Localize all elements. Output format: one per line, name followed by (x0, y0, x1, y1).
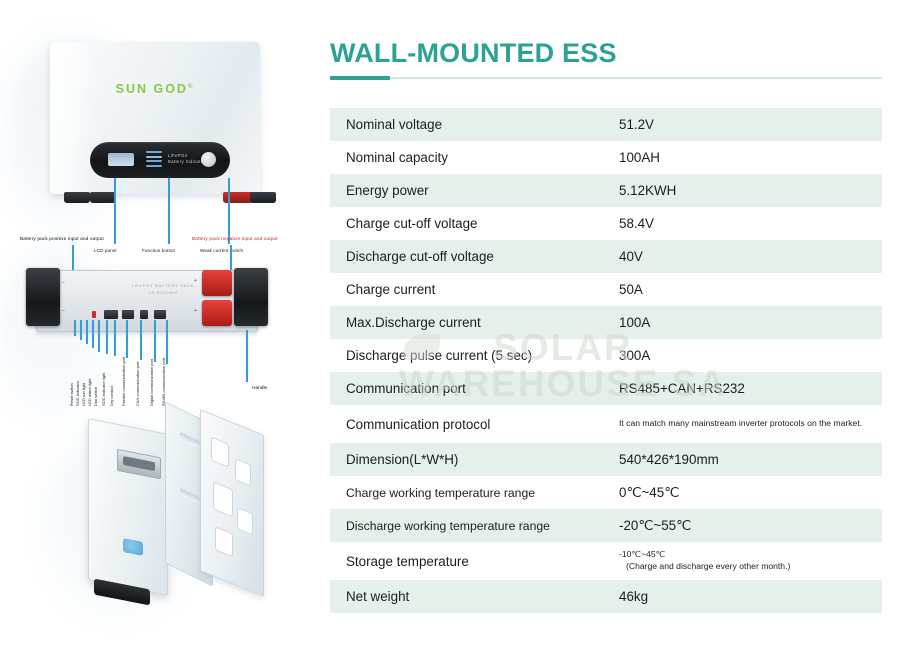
lcd-screen (108, 153, 134, 166)
spec-label: Charge cut-off voltage (330, 216, 613, 231)
spec-value: 100AH (613, 150, 882, 165)
spec-label: Dimension(L*W*H) (330, 452, 613, 467)
spec-label: Max.Discharge current (330, 315, 613, 330)
table-row: Discharge working temperature range -20℃… (330, 509, 882, 542)
spec-value: 540*426*190mm (613, 452, 882, 467)
spec-value: 5.12KWH (613, 183, 882, 198)
table-row: Net weight 46kg (330, 580, 882, 613)
spec-label: Communication port (330, 381, 613, 396)
spec-label: Communication protocol (330, 417, 613, 432)
label-positive-terminal: Battery pack positive input and output (20, 237, 104, 242)
product-photo-bracket (70, 418, 295, 618)
callout-leader-line (230, 245, 232, 271)
bracket-hole (215, 526, 233, 557)
callout-handle: Handle (252, 386, 267, 391)
table-row: Charge current 50A (330, 273, 882, 306)
port-icon (122, 310, 134, 319)
port-label: Digital communication port (149, 359, 154, 406)
label-negative-terminal: Battery pack negative input and output (192, 237, 278, 242)
led-indicator-bars (146, 151, 162, 168)
table-row: Discharge pulse current (5 sec) 300A (330, 339, 882, 372)
product-images-column: SUN GOD® LiFePO4 Battery Indicator (0, 0, 312, 647)
title-rule (330, 77, 882, 79)
battery-front-body: SUN GOD® LiFePO4 Battery Indicator (50, 42, 260, 194)
port-label: LED alarm light (87, 379, 92, 406)
spec-label: Nominal capacity (330, 150, 613, 165)
port-icon (140, 310, 148, 319)
terminal-positive (26, 268, 60, 326)
title-rule-accent (330, 76, 390, 80)
spec-label: Energy power (330, 183, 613, 198)
spec-value: -20℃~55℃ (613, 518, 882, 534)
polarity-minus-icon: − (62, 308, 65, 314)
product-spec-sheet: SUN GOD® LiFePO4 Battery Indicator (0, 0, 900, 647)
mount-foot (90, 192, 116, 203)
body-highlight (50, 42, 96, 194)
table-row: Discharge cut-off voltage 40V (330, 240, 882, 273)
port-label: Reset switch (69, 383, 74, 406)
spec-label: Storage temperature (330, 554, 613, 569)
terminal-negative-bottom (202, 300, 232, 326)
bracket-hole (213, 481, 233, 517)
callout-leader-line (72, 245, 74, 271)
callout-leader-line (246, 330, 248, 382)
spec-label: Net weight (330, 589, 613, 604)
wall-mount-bracket (200, 409, 264, 597)
mount-foot (250, 192, 276, 203)
product-photo-front: SUN GOD® LiFePO4 Battery Indicator (28, 42, 280, 222)
polarity-minus-icon: − (62, 280, 65, 286)
spec-value: 58.4V (613, 216, 882, 231)
panel-marking-line2: Battery Indicator (168, 159, 205, 165)
terminal-handle-right (234, 268, 268, 326)
product-badge-icon (123, 538, 143, 556)
page-title: WALL-MOUNTED ESS (330, 38, 617, 69)
spec-label: Nominal voltage (330, 117, 613, 132)
spec-value: 50A (613, 282, 882, 297)
face-marking: LiFePO4 BATTERY PACK LP-5120WH (123, 283, 203, 297)
table-row: Dimension(L*W*H) 540*426*190mm (330, 443, 882, 476)
registered-mark-icon: ® (188, 84, 194, 90)
battery-case-3d (88, 418, 168, 596)
product-photo-rear: Battery pack positive input and output B… (14, 234, 304, 412)
table-row: Max.Discharge current 100A (330, 306, 882, 339)
terminal-negative-top (202, 270, 232, 296)
port-label: CAN communication port (135, 362, 140, 406)
spec-value-note: (Charge and discharge every other month.… (619, 561, 882, 573)
carry-handle (117, 449, 161, 480)
spec-value: It can match many mainstream inverter pr… (613, 418, 882, 430)
table-row: Energy power 5.12KWH (330, 174, 882, 207)
function-button-icon (201, 152, 216, 167)
port-label: SOC indicator light (101, 373, 106, 406)
table-row: Storage temperature -10℃~45℃ (Charge and… (330, 542, 882, 580)
spec-value: 0℃~45℃ (613, 485, 882, 501)
table-row: Charge working temperature range 0℃~45℃ (330, 476, 882, 509)
table-row: Nominal voltage 51.2V (330, 108, 882, 141)
brand-logo: SUN GOD® (50, 82, 260, 96)
polarity-plus-icon: + (194, 278, 197, 284)
bracket-hole (237, 507, 253, 535)
port-label: LED run light (81, 383, 86, 406)
spec-value: 100A (613, 315, 882, 330)
port-label: Dry contact (109, 386, 114, 406)
port-icon (154, 310, 166, 319)
port-label: Dial switch (93, 387, 98, 406)
spec-value: RS485+CAN+RS232 (613, 381, 882, 396)
spec-value: 51.2V (613, 117, 882, 132)
port-label: RS485 communication port (161, 358, 166, 406)
face-marking-line2: LP-5120WH (123, 290, 203, 297)
table-row: Communication port RS485+CAN+RS232 (330, 372, 882, 405)
spec-label: Discharge pulse current (5 sec) (330, 348, 613, 363)
panel-marking: LiFePO4 Battery Indicator (168, 153, 205, 166)
spec-label: Discharge working temperature range (330, 519, 613, 533)
mount-foot (64, 192, 90, 203)
table-row: Charge cut-off voltage 58.4V (330, 207, 882, 240)
spec-value: 40V (613, 249, 882, 264)
spec-value: 300A (613, 348, 882, 363)
bracket-hole (211, 437, 229, 468)
spec-label: Charge current (330, 282, 613, 297)
spec-label: Charge working temperature range (330, 486, 613, 500)
port-label: Parallel communication port (121, 357, 126, 406)
bracket-hole (235, 458, 251, 486)
polarity-plus-icon: + (194, 308, 197, 314)
control-panel: LiFePO4 Battery Indicator (90, 142, 230, 178)
face-marking-line1: LiFePO4 BATTERY PACK (123, 283, 203, 290)
spec-value: -10℃~45℃ (619, 549, 665, 559)
brand-logo-text: SUN GOD (116, 82, 188, 96)
spec-value-group: -10℃~45℃ (Charge and discharge every oth… (613, 549, 882, 572)
table-row: Nominal capacity 100AH (330, 141, 882, 174)
spec-label: Discharge cut-off voltage (330, 249, 613, 264)
spec-column: WALL-MOUNTED ESS Nominal voltage 51.2V N… (330, 0, 882, 647)
reset-switch-icon (92, 311, 96, 318)
spec-value: 46kg (613, 589, 882, 604)
port-label: SOC indicator (75, 381, 80, 406)
port-label-stack: Reset switch SOC indicator LED run light… (68, 334, 218, 406)
table-row: Communication protocol It can match many… (330, 405, 882, 443)
dip-switch-icon (104, 310, 118, 319)
specification-table: Nominal voltage 51.2V Nominal capacity 1… (330, 108, 882, 613)
